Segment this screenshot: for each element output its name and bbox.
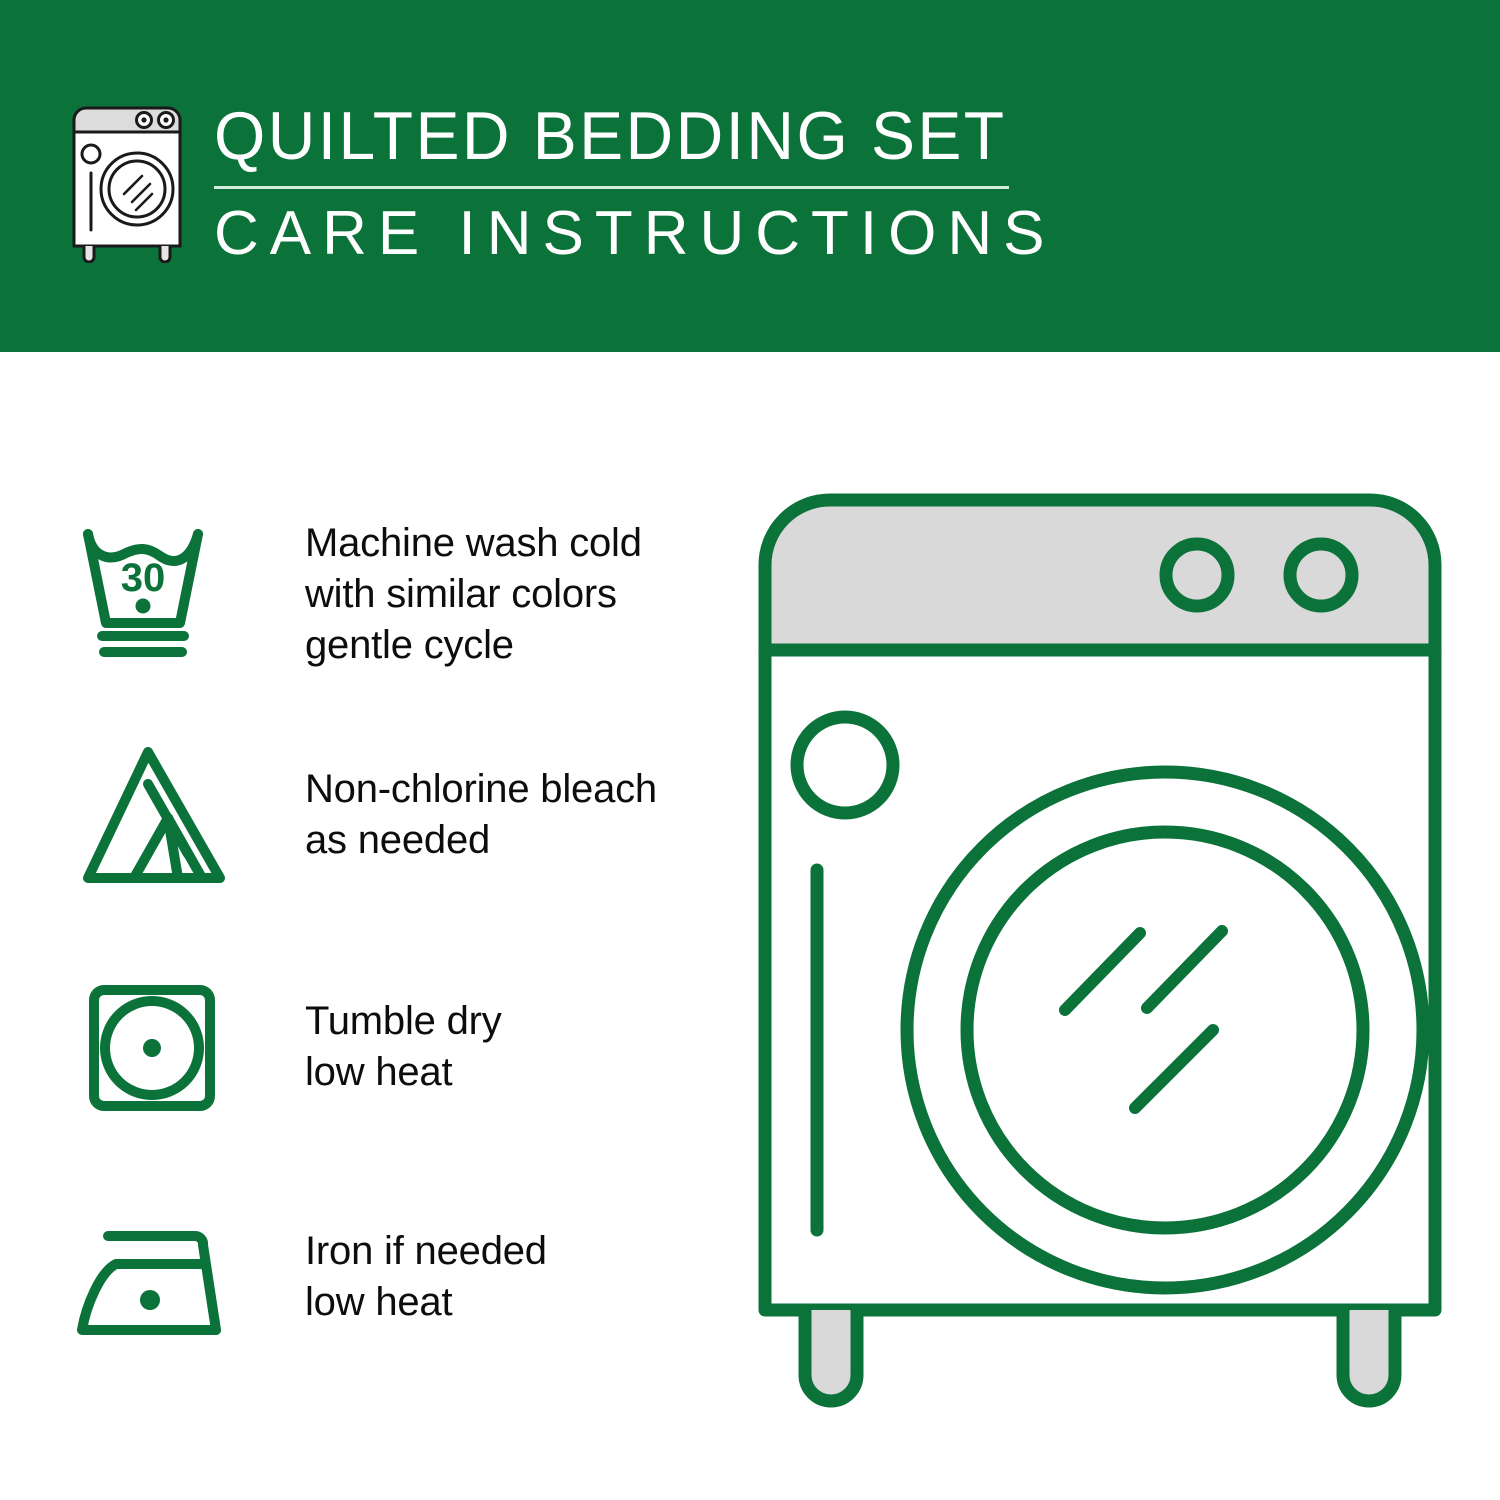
non-chlorine-bleach-icon xyxy=(72,740,247,890)
header-banner: QUILTED BEDDING SET CARE INSTRUCTIONS xyxy=(0,0,1500,352)
wash-temp-label: 30 xyxy=(121,556,166,600)
care-item-bleach: Non-chlorine bleach as needed xyxy=(72,740,657,890)
page-subtitle: CARE INSTRUCTIONS xyxy=(214,203,1055,265)
washing-machine-icon xyxy=(62,98,192,263)
front-load-washing-machine-illustration xyxy=(735,470,1475,1430)
machine-wash-30-gentle-icon: 30 xyxy=(72,520,247,670)
header-title-group: QUILTED BEDDING SET CARE INSTRUCTIONS xyxy=(214,98,1055,265)
iron-low-heat-icon xyxy=(72,1202,247,1352)
header-content: QUILTED BEDDING SET CARE INSTRUCTIONS xyxy=(62,98,1055,265)
care-item-text: Tumble dry low heat xyxy=(305,996,502,1098)
page-title: QUILTED BEDDING SET xyxy=(214,102,1030,170)
tumble-dry-low-icon xyxy=(72,972,247,1122)
care-item-machine-wash: 30 Machine wash cold with similar colors… xyxy=(72,518,642,672)
care-item-text: Non-chlorine bleach as needed xyxy=(305,764,657,866)
care-item-text: Machine wash cold with similar colors ge… xyxy=(305,518,642,672)
care-item-text: Iron if needed low heat xyxy=(305,1226,547,1328)
care-item-iron: Iron if needed low heat xyxy=(72,1202,547,1352)
care-instruction-list: 30 Machine wash cold with similar colors… xyxy=(0,352,740,1500)
title-divider xyxy=(214,186,1009,189)
care-item-tumble-dry: Tumble dry low heat xyxy=(72,972,502,1122)
